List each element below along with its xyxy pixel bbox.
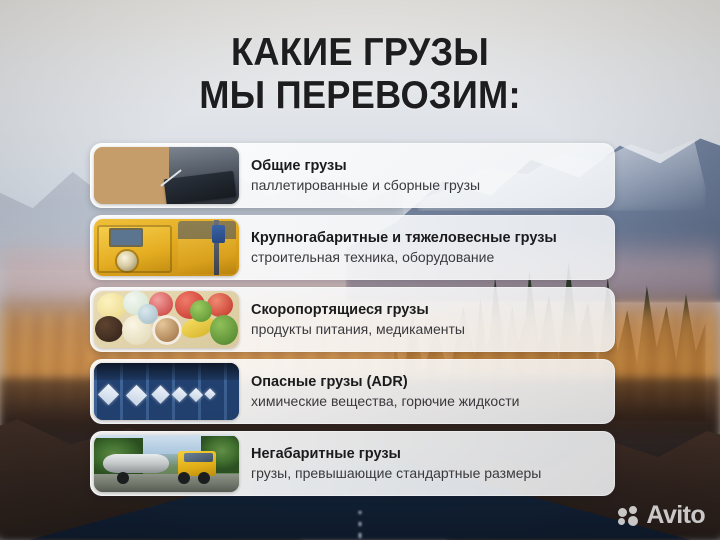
cargo-text-block: Крупногабаритные и тяжеловесные грузы ст… — [251, 229, 565, 266]
cargo-thumbnail-perishable — [94, 291, 239, 348]
cargo-subtitle: строительная техника, оборудование — [251, 248, 557, 266]
list-item[interactable]: Негабаритные грузы грузы, превышающие ст… — [90, 431, 615, 496]
cargo-text-block: Негабаритные грузы грузы, превышающие ст… — [251, 445, 549, 482]
cargo-title: Опасные грузы (ADR) — [251, 373, 519, 391]
avito-wordmark: Avito — [646, 503, 705, 528]
cargo-subtitle: паллетированные и сборные грузы — [251, 176, 480, 194]
list-item[interactable]: Крупногабаритные и тяжеловесные грузы ст… — [90, 215, 615, 280]
cargo-text-block: Скоропортящиеся грузы продукты питания, … — [251, 301, 473, 338]
cargo-text-block: Опасные грузы (ADR) химические вещества,… — [251, 373, 527, 410]
cargo-thumbnail-out-of-gauge — [94, 435, 239, 492]
cargo-title: Скоропортящиеся грузы — [251, 301, 465, 319]
cargo-subtitle: продукты питания, медикаменты — [251, 320, 465, 338]
cargo-thumbnail-dangerous-adr — [94, 363, 239, 420]
cargo-type-list: Общие грузы паллетированные и сборные гр… — [90, 143, 615, 496]
avito-watermark: Avito — [618, 503, 705, 528]
list-item[interactable]: Опасные грузы (ADR) химические вещества,… — [90, 359, 615, 424]
avito-dots-logo-icon — [618, 506, 641, 526]
cargo-thumbnail-oversized-heavy — [94, 219, 239, 276]
cargo-title: Общие грузы — [251, 157, 480, 175]
cargo-thumbnail-general — [94, 147, 239, 204]
list-item[interactable]: Скоропортящиеся грузы продукты питания, … — [90, 287, 615, 352]
page-title: КАКИЕ ГРУЗЫ МЫ ПЕРЕВОЗИМ: — [25, 31, 695, 118]
cargo-subtitle: химические вещества, горючие жидкости — [251, 392, 519, 410]
cargo-title: Крупногабаритные и тяжеловесные грузы — [251, 229, 557, 247]
list-item[interactable]: Общие грузы паллетированные и сборные гр… — [90, 143, 615, 208]
cargo-title: Негабаритные грузы — [251, 445, 541, 463]
poster-content: КАКИЕ ГРУЗЫ МЫ ПЕРЕВОЗИМ: Общие грузы па… — [0, 0, 720, 540]
cargo-subtitle: грузы, превышающие стандартные размеры — [251, 464, 541, 482]
cargo-text-block: Общие грузы паллетированные и сборные гр… — [251, 157, 488, 194]
